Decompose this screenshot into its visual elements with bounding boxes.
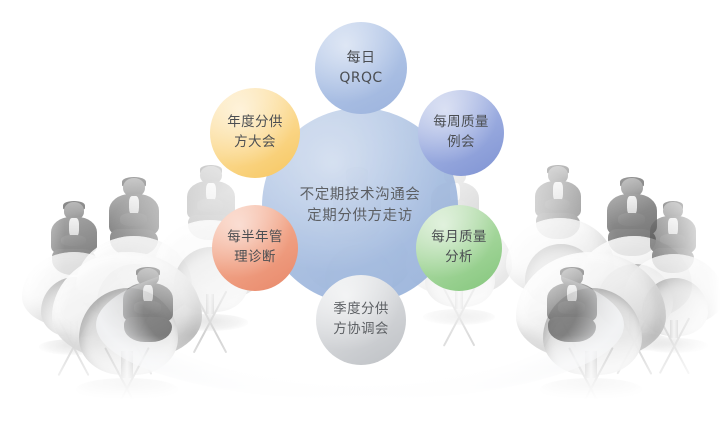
- seated-person: [102, 178, 166, 258]
- petal-bubble-annual[interactable]: 年度分供 方大会: [210, 88, 300, 178]
- petal-label-monthly: 每月质量 分析: [431, 228, 487, 267]
- seated-person: [600, 178, 664, 258]
- petal-bubble-monthly[interactable]: 每月质量 分析: [416, 205, 502, 291]
- seated-person: [540, 268, 604, 344]
- petal-label-daily: 每日 QRQC: [339, 48, 382, 89]
- egg-chair: [506, 218, 614, 326]
- seated-person: [644, 202, 702, 274]
- egg-chair: [52, 252, 202, 402]
- petal-bubble-weekly[interactable]: 每周质量 例会: [418, 90, 504, 176]
- petal-bubble-quarterly[interactable]: 季度分供 方协调会: [316, 275, 406, 365]
- egg-chair: [516, 252, 666, 402]
- seated-person: [528, 166, 588, 240]
- center-bubble-label: 不定期技术沟通会 定期分供方走访: [300, 185, 421, 227]
- egg-chair: [624, 254, 720, 354]
- petal-bubble-daily[interactable]: 每日 QRQC: [315, 22, 407, 114]
- egg-chair: [576, 236, 692, 352]
- seated-person: [44, 202, 104, 276]
- petal-bubble-semiannual[interactable]: 每半年管 理诊断: [212, 205, 298, 291]
- seated-person: [116, 268, 180, 344]
- petal-label-quarterly: 季度分供 方协调会: [333, 300, 389, 339]
- egg-chair: [76, 236, 192, 352]
- egg-chair: [22, 252, 126, 356]
- petal-label-annual: 年度分供 方大会: [227, 113, 283, 152]
- petal-label-semiannual: 每半年管 理诊断: [227, 228, 283, 267]
- petal-label-weekly: 每周质量 例会: [433, 113, 489, 152]
- diagram-canvas: 不定期技术沟通会 定期分供方走访 每日 QRQC 每周质量 例会 每月质量 分析…: [0, 0, 720, 425]
